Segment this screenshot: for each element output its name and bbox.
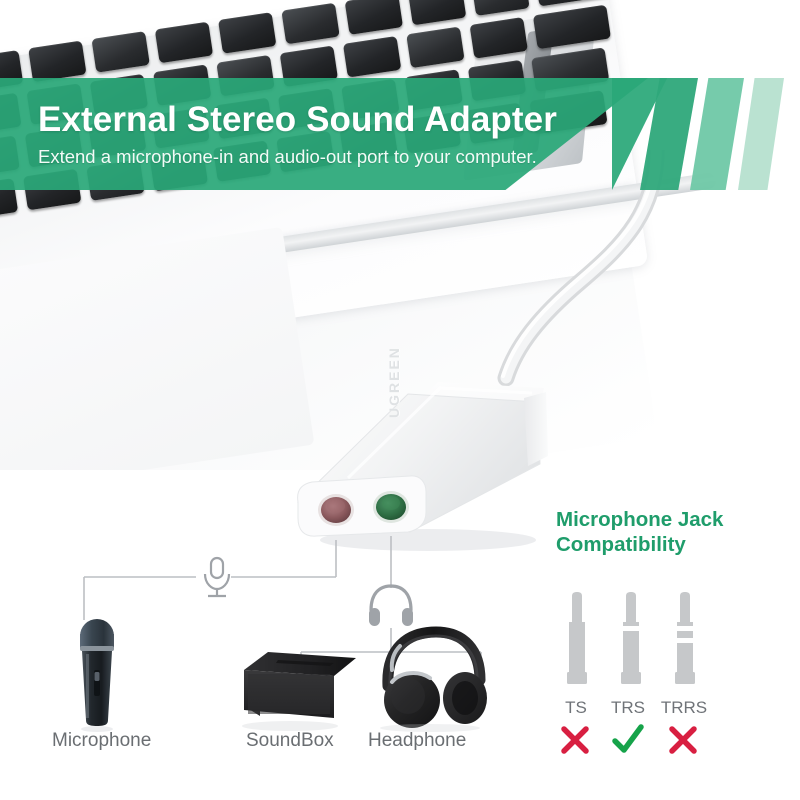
support-mark-ts [559,724,593,756]
jack-code-trs: TRS [604,698,652,718]
compatibility-title: Microphone Jack Compatibility [556,508,786,557]
microphone-device [62,612,132,732]
soundbox-device [238,644,360,732]
jack-trs-icon [618,592,644,688]
label-microphone: Microphone [52,730,151,752]
support-mark-trrs [667,724,701,756]
jack-trrs-icon [672,592,698,688]
keyboard-key [343,36,401,78]
keyboard-key [533,5,611,50]
jack-code-ts: TS [556,698,596,718]
keyboard-key [155,22,213,64]
microphone-port-icon [205,558,229,596]
headphone-port-icon [369,586,413,626]
label-headphone: Headphone [368,730,466,752]
keyboard-key [345,0,403,35]
jack-illustrations [560,592,740,688]
banner-text-block: External Stereo Sound Adapter Extend a m… [38,78,557,190]
banner-stripe-2 [690,78,744,190]
label-soundbox: SoundBox [246,730,334,752]
keyboard-key [91,31,149,73]
keyboard-key [281,3,339,45]
keyboard-key [406,27,464,69]
jack-support-marks [556,724,746,758]
jack-ts-icon [564,592,590,688]
keyboard-key [470,17,528,59]
headphone-device [368,624,494,732]
brand-logo: UGREEN [386,346,402,418]
jack-codes: TSTRSTRRS [556,698,746,722]
page-subtitle: Extend a microphone-in and audio-out por… [38,146,557,167]
banner-stripe-3 [738,78,784,190]
keyboard-key [408,0,466,25]
jack-code-trrs: TRRS [656,698,712,718]
compatibility-panel: Microphone Jack Compatibility TSTRSTRRS [556,508,786,770]
product-infographic: UGREEN [0,0,800,800]
page-title: External Stereo Sound Adapter [38,101,557,139]
support-mark-trs [611,724,645,756]
headline-banner: External Stereo Sound Adapter Extend a m… [0,78,800,190]
laptop-palmrest [0,227,314,470]
keyboard-key [218,12,276,54]
keyboard-key [471,0,529,16]
keyboard-key [28,41,86,83]
